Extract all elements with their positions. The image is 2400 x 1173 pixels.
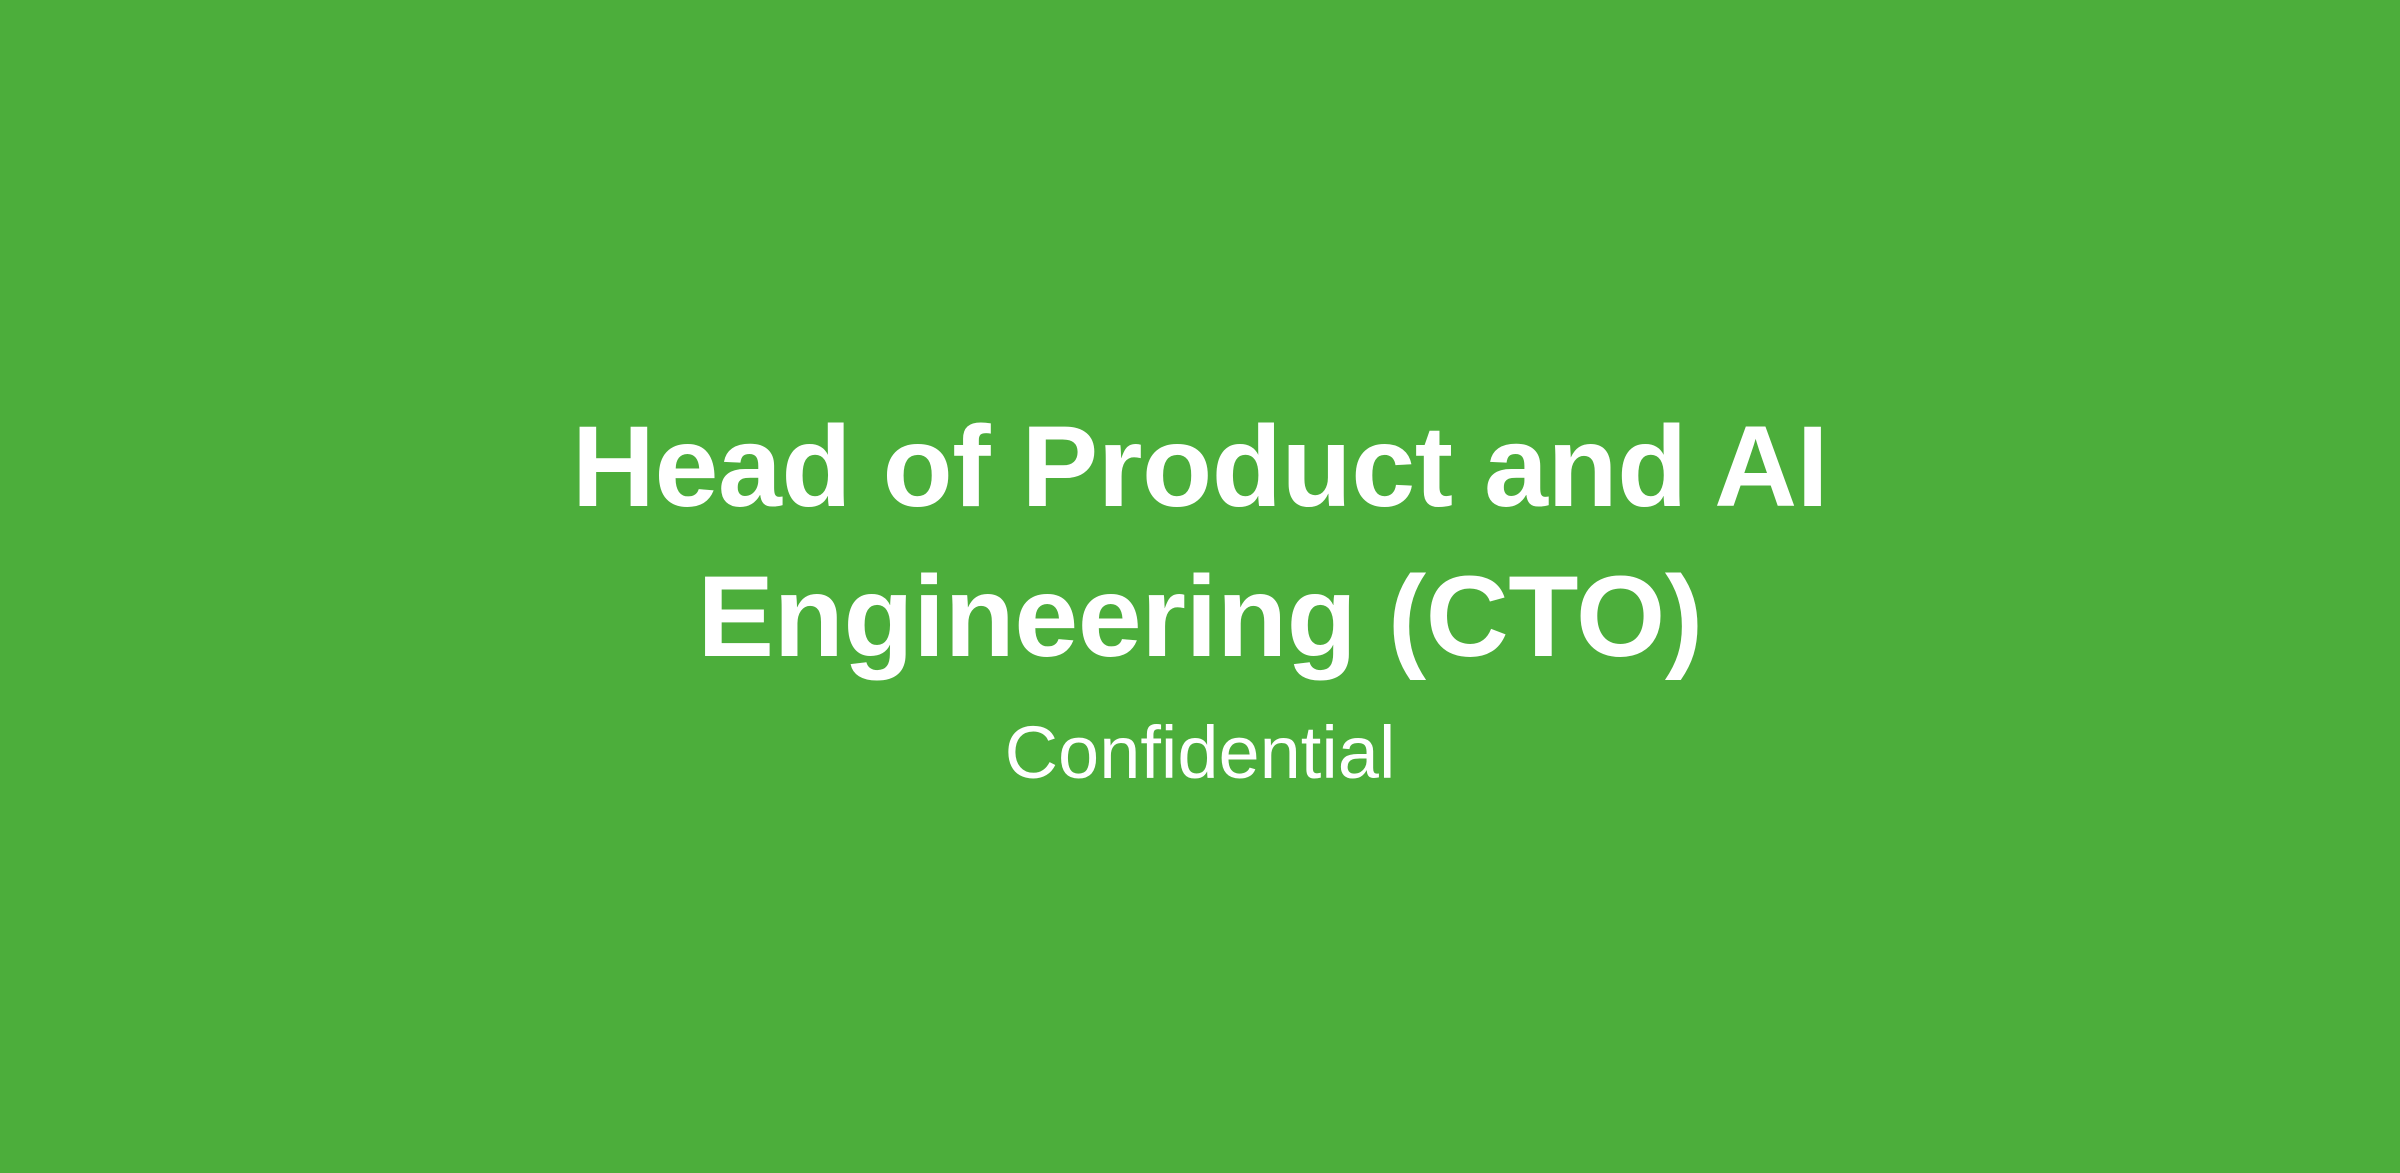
card-subtitle: Confidential — [1005, 692, 1396, 796]
page-title: Head of Product and AI Engineering (CTO) — [525, 392, 1875, 692]
title-card: Head of Product and AI Engineering (CTO)… — [0, 0, 2400, 1173]
title-block: Head of Product and AI Engineering (CTO)… — [500, 392, 1900, 796]
